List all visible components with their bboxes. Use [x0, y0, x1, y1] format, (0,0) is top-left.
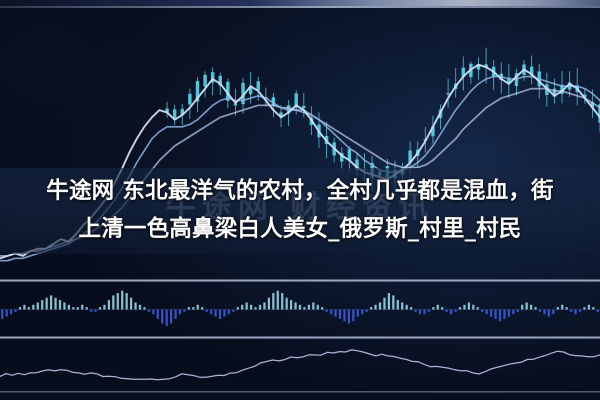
- headline-text: 牛途网 东北最洋气的农村，全村几乎都是混血，街 上清一色高鼻梁白人美女_俄罗斯_…: [0, 172, 600, 248]
- line-chart-panel: [0, 339, 600, 392]
- indicator-line-chart: [0, 339, 600, 392]
- headline-line-2: 上清一色高鼻梁白人美女_俄罗斯_村里_村民: [8, 210, 592, 248]
- headline-line-1: 牛途网 东北最洋气的农村，全村几乎都是混血，街: [8, 172, 592, 210]
- macd-histogram: [0, 282, 600, 337]
- panel-divider-bottom: [0, 391, 600, 393]
- screenshot-root: 牛途网 财经资讯 牛途网 东北最洋气的农村，全村几乎都是混血，街 上清一色高鼻梁…: [0, 0, 600, 400]
- macd-panel: [0, 282, 600, 337]
